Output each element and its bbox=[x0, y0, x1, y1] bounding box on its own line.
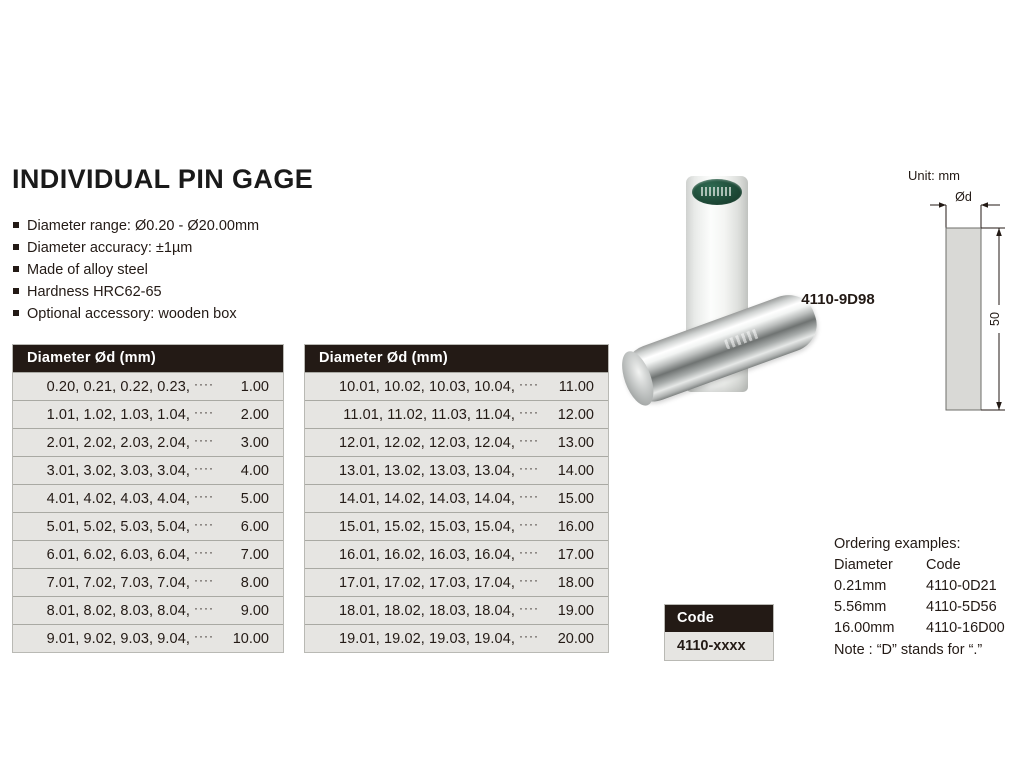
bullet-square-icon bbox=[13, 222, 19, 228]
row-ellipsis: ···· bbox=[519, 461, 539, 475]
diameter-table-left: Diameter Ød (mm) 0.20, 0.21, 0.22, 0.23,… bbox=[12, 344, 284, 653]
feature-item: Diameter range: Ø0.20 - Ø20.00mm bbox=[13, 218, 333, 240]
table-row: 17.01, 17.02, 17.03, 17.04, ···· 18.00 bbox=[305, 568, 608, 596]
row-end-value: 11.00 bbox=[546, 379, 594, 395]
table-row: 13.01, 13.02, 13.03, 13.04, ···· 14.00 bbox=[305, 456, 608, 484]
row-ellipsis: ···· bbox=[519, 405, 539, 419]
table-row: 7.01, 7.02, 7.03, 7.04, ···· 8.00 bbox=[13, 568, 283, 596]
table-header: Diameter Ød (mm) bbox=[13, 345, 283, 372]
bullet-square-icon bbox=[13, 288, 19, 294]
row-ellipsis: ···· bbox=[194, 545, 214, 559]
row-series: 8.01, 8.02, 8.03, 8.04, bbox=[47, 603, 190, 619]
row-end-value: 19.00 bbox=[546, 603, 594, 619]
row-ellipsis: ···· bbox=[194, 461, 214, 475]
ordering-diameter: 16.00mm bbox=[834, 618, 926, 639]
row-series: 16.01, 16.02, 16.03, 16.04, bbox=[339, 547, 515, 563]
ordering-note: Note : “D” stands for “.” bbox=[834, 640, 1005, 661]
bullet-square-icon bbox=[13, 310, 19, 316]
row-ellipsis: ···· bbox=[519, 489, 539, 503]
table-row: 10.01, 10.02, 10.03, 10.04, ···· 11.00 bbox=[305, 372, 608, 400]
feature-text: Optional accessory: wooden box bbox=[27, 306, 237, 322]
row-end-value: 17.00 bbox=[546, 547, 594, 563]
row-end-value: 1.00 bbox=[221, 379, 269, 395]
length-dimension-text: 50 bbox=[988, 312, 1002, 326]
bullet-square-icon bbox=[13, 244, 19, 250]
row-series: 4.01, 4.02, 4.03, 4.04, bbox=[47, 491, 190, 507]
row-end-value: 9.00 bbox=[221, 603, 269, 619]
diameter-table-right: Diameter Ød (mm) 10.01, 10.02, 10.03, 10… bbox=[304, 344, 609, 653]
case-green-label-icon bbox=[692, 179, 742, 205]
part-number-label: 4110-9D98 bbox=[770, 291, 906, 308]
table-row: 3.01, 3.02, 3.03, 3.04, ···· 4.00 bbox=[13, 456, 283, 484]
row-series: 13.01, 13.02, 13.03, 13.04, bbox=[339, 463, 515, 479]
row-end-value: 13.00 bbox=[546, 435, 594, 451]
row-series: 10.01, 10.02, 10.03, 10.04, bbox=[339, 379, 515, 395]
table-row: 2.01, 2.02, 2.03, 2.04, ···· 3.00 bbox=[13, 428, 283, 456]
table-header: Diameter Ød (mm) bbox=[305, 345, 608, 372]
code-table-value: 4110-xxxx bbox=[665, 632, 773, 660]
row-ellipsis: ···· bbox=[194, 377, 214, 391]
row-series: 1.01, 1.02, 1.03, 1.04, bbox=[47, 407, 190, 423]
diameter-dimension-text: Ød bbox=[955, 190, 972, 204]
ordering-examples: Ordering examples: Diameter Code 0.21mm … bbox=[834, 534, 1005, 661]
row-end-value: 5.00 bbox=[221, 491, 269, 507]
table-row: 11.01, 11.02, 11.03, 11.04, ···· 12.00 bbox=[305, 400, 608, 428]
row-ellipsis: ···· bbox=[519, 433, 539, 447]
feature-item: Optional accessory: wooden box bbox=[13, 306, 333, 328]
row-series: 3.01, 3.02, 3.03, 3.04, bbox=[47, 463, 190, 479]
row-end-value: 16.00 bbox=[546, 519, 594, 535]
table-row: 6.01, 6.02, 6.03, 6.04, ···· 7.00 bbox=[13, 540, 283, 568]
row-series: 5.01, 5.02, 5.03, 5.04, bbox=[47, 519, 190, 535]
table-row: 16.01, 16.02, 16.03, 16.04, ···· 17.00 bbox=[305, 540, 608, 568]
row-end-value: 12.00 bbox=[546, 407, 594, 423]
row-end-value: 10.00 bbox=[221, 631, 269, 647]
row-end-value: 20.00 bbox=[546, 631, 594, 647]
dimension-drawing-svg: Ød 50 bbox=[900, 165, 1024, 425]
feature-text: Hardness HRC62-65 bbox=[27, 284, 162, 300]
row-end-value: 15.00 bbox=[546, 491, 594, 507]
row-end-value: 6.00 bbox=[221, 519, 269, 535]
row-series: 14.01, 14.02, 14.03, 14.04, bbox=[339, 491, 515, 507]
row-end-value: 18.00 bbox=[546, 575, 594, 591]
row-ellipsis: ···· bbox=[194, 489, 214, 503]
ordering-diameter: 0.21mm bbox=[834, 576, 926, 597]
table-row: 9.01, 9.02, 9.03, 9.04, ···· 10.00 bbox=[13, 624, 283, 652]
row-end-value: 4.00 bbox=[221, 463, 269, 479]
row-series: 7.01, 7.02, 7.03, 7.04, bbox=[47, 575, 190, 591]
row-ellipsis: ···· bbox=[194, 517, 214, 531]
feature-list: Diameter range: Ø0.20 - Ø20.00mm Diamete… bbox=[13, 218, 333, 328]
feature-item: Made of alloy steel bbox=[13, 262, 333, 284]
bullet-square-icon bbox=[13, 266, 19, 272]
feature-text: Made of alloy steel bbox=[27, 262, 148, 278]
code-table: Code 4110-xxxx bbox=[664, 604, 774, 661]
row-ellipsis: ···· bbox=[194, 629, 214, 643]
row-series: 0.20, 0.21, 0.22, 0.23, bbox=[47, 379, 190, 395]
ordering-code: 4110-5D56 bbox=[926, 597, 997, 618]
feature-item: Hardness HRC62-65 bbox=[13, 284, 333, 306]
row-ellipsis: ···· bbox=[194, 601, 214, 615]
ordering-title: Ordering examples: bbox=[834, 534, 1005, 555]
table-row: 12.01, 12.02, 12.03, 12.04, ···· 13.00 bbox=[305, 428, 608, 456]
row-ellipsis: ···· bbox=[194, 573, 214, 587]
feature-text: Diameter range: Ø0.20 - Ø20.00mm bbox=[27, 218, 259, 234]
table-row: 1.01, 1.02, 1.03, 1.04, ···· 2.00 bbox=[13, 400, 283, 428]
row-series: 15.01, 15.02, 15.03, 15.04, bbox=[339, 519, 515, 535]
row-end-value: 7.00 bbox=[221, 547, 269, 563]
ordering-code: 4110-16D00 bbox=[926, 618, 1005, 639]
page-title: INDIVIDUAL PIN GAGE bbox=[12, 164, 313, 195]
row-ellipsis: ···· bbox=[519, 573, 539, 587]
row-series: 11.01, 11.02, 11.03, 11.04, bbox=[343, 407, 515, 423]
ordering-row: 16.00mm 4110-16D00 bbox=[834, 618, 1005, 639]
table-row: 5.01, 5.02, 5.03, 5.04, ···· 6.00 bbox=[13, 512, 283, 540]
table-row: 0.20, 0.21, 0.22, 0.23, ···· 1.00 bbox=[13, 372, 283, 400]
row-ellipsis: ···· bbox=[519, 377, 539, 391]
row-ellipsis: ···· bbox=[194, 405, 214, 419]
ordering-col-code: Code bbox=[926, 555, 961, 576]
ordering-row: 5.56mm 4110-5D56 bbox=[834, 597, 1005, 618]
ordering-col-diameter: Diameter bbox=[834, 555, 926, 576]
row-series: 18.01, 18.02, 18.03, 18.04, bbox=[339, 603, 515, 619]
row-series: 2.01, 2.02, 2.03, 2.04, bbox=[47, 435, 190, 451]
ordering-column-headers: Diameter Code bbox=[834, 555, 1005, 576]
row-ellipsis: ···· bbox=[519, 629, 539, 643]
technical-drawing: Unit: mm Ød 50 bbox=[900, 165, 1024, 425]
row-ellipsis: ···· bbox=[519, 601, 539, 615]
table-row: 4.01, 4.02, 4.03, 4.04, ···· 5.00 bbox=[13, 484, 283, 512]
code-table-header: Code bbox=[665, 605, 773, 632]
row-end-value: 3.00 bbox=[221, 435, 269, 451]
ordering-row: 0.21mm 4110-0D21 bbox=[834, 576, 1005, 597]
ordering-code: 4110-0D21 bbox=[926, 576, 997, 597]
row-series: 12.01, 12.02, 12.03, 12.04, bbox=[339, 435, 515, 451]
row-series: 19.01, 19.02, 19.03, 19.04, bbox=[339, 631, 515, 647]
row-ellipsis: ···· bbox=[519, 545, 539, 559]
row-end-value: 14.00 bbox=[546, 463, 594, 479]
ordering-diameter: 5.56mm bbox=[834, 597, 926, 618]
row-end-value: 8.00 bbox=[221, 575, 269, 591]
row-series: 9.01, 9.02, 9.03, 9.04, bbox=[47, 631, 190, 647]
table-row: 8.01, 8.02, 8.03, 8.04, ···· 9.00 bbox=[13, 596, 283, 624]
row-series: 17.01, 17.02, 17.03, 17.04, bbox=[339, 575, 515, 591]
feature-item: Diameter accuracy: ±1µm bbox=[13, 240, 333, 262]
table-row: 18.01, 18.02, 18.03, 18.04, ···· 19.00 bbox=[305, 596, 608, 624]
row-end-value: 2.00 bbox=[221, 407, 269, 423]
row-series: 6.01, 6.02, 6.03, 6.04, bbox=[47, 547, 190, 563]
table-row: 19.01, 19.02, 19.03, 19.04, ···· 20.00 bbox=[305, 624, 608, 652]
table-row: 14.01, 14.02, 14.03, 14.04, ···· 15.00 bbox=[305, 484, 608, 512]
feature-text: Diameter accuracy: ±1µm bbox=[27, 240, 192, 256]
row-ellipsis: ···· bbox=[194, 433, 214, 447]
row-ellipsis: ···· bbox=[519, 517, 539, 531]
table-row: 15.01, 15.02, 15.03, 15.04, ···· 16.00 bbox=[305, 512, 608, 540]
